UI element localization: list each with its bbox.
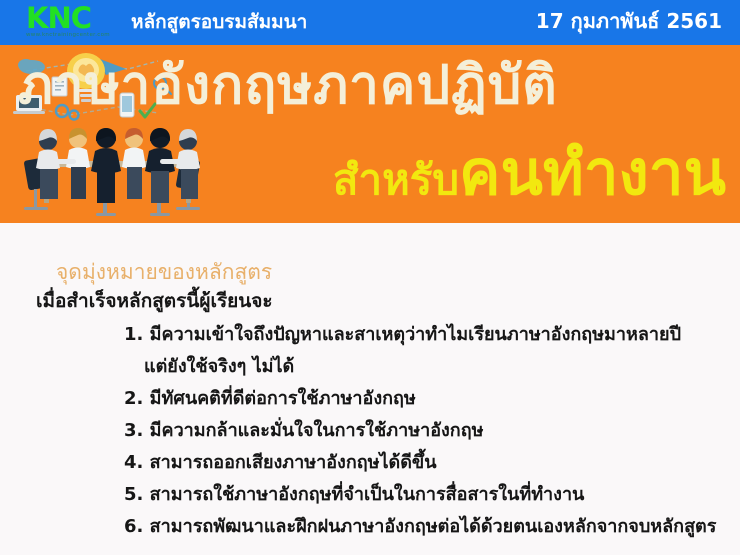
list-item: 3. มีความกล้าและมั่นใจในการใช้ภาษาอังกฤษ bbox=[124, 416, 732, 446]
list-item: 5. สามารถใช้ภาษาอังกฤษที่จำเป็นในการสื่อ… bbox=[124, 480, 732, 510]
list-item: 6. สามารถพัฒนาและฝึกฝนภาษาอังกฤษต่อได้ด้… bbox=[124, 512, 732, 542]
header-course-label: หลักสูตรอบรมสัมมนา bbox=[131, 9, 307, 35]
logo-wordmark: KNC bbox=[26, 4, 126, 32]
list-item-number: 6. bbox=[124, 516, 143, 537]
banner-subtitle-light: สำหรับ bbox=[333, 155, 459, 204]
list-item-number: 4. bbox=[124, 452, 143, 473]
list-item-number: 2. bbox=[124, 388, 143, 409]
banner-title: ภาษาอังกฤษภาคปฏิบัติ bbox=[18, 53, 730, 119]
list-item-number: 1. bbox=[124, 324, 143, 345]
list-item-continuation: แต่ยังใช้จริงๆ ไม่ได้ bbox=[124, 352, 732, 382]
logo-tagline: www.knctrainingcenter.com bbox=[26, 32, 126, 39]
list-item-number: 3. bbox=[124, 420, 143, 441]
knc-logo[interactable]: KNC www.knctrainingcenter.com bbox=[26, 4, 126, 42]
section-heading: จุดมุ่งหมายของหลักสูตร bbox=[56, 258, 272, 286]
slide-root: KNC www.knctrainingcenter.com หลักสูตรอบ… bbox=[0, 0, 740, 555]
orange-banner: ภาษาอังกฤษภาคปฏิบัติ สำหรับคนทำงาน bbox=[0, 45, 740, 223]
person-5 bbox=[145, 128, 175, 216]
list-item-text: สามารถออกเสียงภาษาอังกฤษได้ดีขึ้น bbox=[150, 452, 437, 473]
list-item-number: 5. bbox=[124, 484, 143, 505]
list-item-text: สามารถพัฒนาและฝึกฝนภาษาอังกฤษต่อได้ด้วยต… bbox=[150, 516, 717, 537]
list-item-text: มีทัศนคติที่ดีต่อการใช้ภาษาอังกฤษ bbox=[150, 388, 416, 409]
person-4 bbox=[122, 128, 146, 199]
lead-line: เมื่อสำเร็จหลักสูตรนี้ผู้เรียนจะ bbox=[36, 288, 273, 314]
meeting-svg bbox=[18, 117, 218, 221]
list-item: 2. มีทัศนคติที่ดีต่อการใช้ภาษาอังกฤษ bbox=[124, 384, 732, 414]
header-bar: KNC www.knctrainingcenter.com หลักสูตรอบ… bbox=[0, 0, 740, 45]
objectives-list: 1. มีความเข้าใจถึงปัญหาและสาเหตุว่าทำไมเ… bbox=[124, 320, 732, 544]
list-item: 4. สามารถออกเสียงภาษาอังกฤษได้ดีขึ้น bbox=[124, 448, 732, 478]
banner-subtitle: สำหรับคนทำงาน bbox=[333, 137, 726, 223]
list-item: 1. มีความเข้าใจถึงปัญหาและสาเหตุว่าทำไมเ… bbox=[124, 320, 732, 350]
list-item-text: สามารถใช้ภาษาอังกฤษที่จำเป็นในการสื่อสาร… bbox=[150, 484, 585, 505]
header-date: 17 กุมภาพันธ์ 2561 bbox=[536, 8, 722, 34]
list-item-text: มีความกล้าและมั่นใจในการใช้ภาษาอังกฤษ bbox=[150, 420, 484, 441]
list-item-text: มีความเข้าใจถึงปัญหาและสาเหตุว่าทำไมเรีย… bbox=[150, 324, 681, 345]
banner-subtitle-heavy: คนทำงาน bbox=[459, 136, 726, 209]
person-6 bbox=[176, 129, 200, 199]
person-3 bbox=[91, 128, 121, 216]
business-meeting-illustration bbox=[18, 117, 218, 221]
